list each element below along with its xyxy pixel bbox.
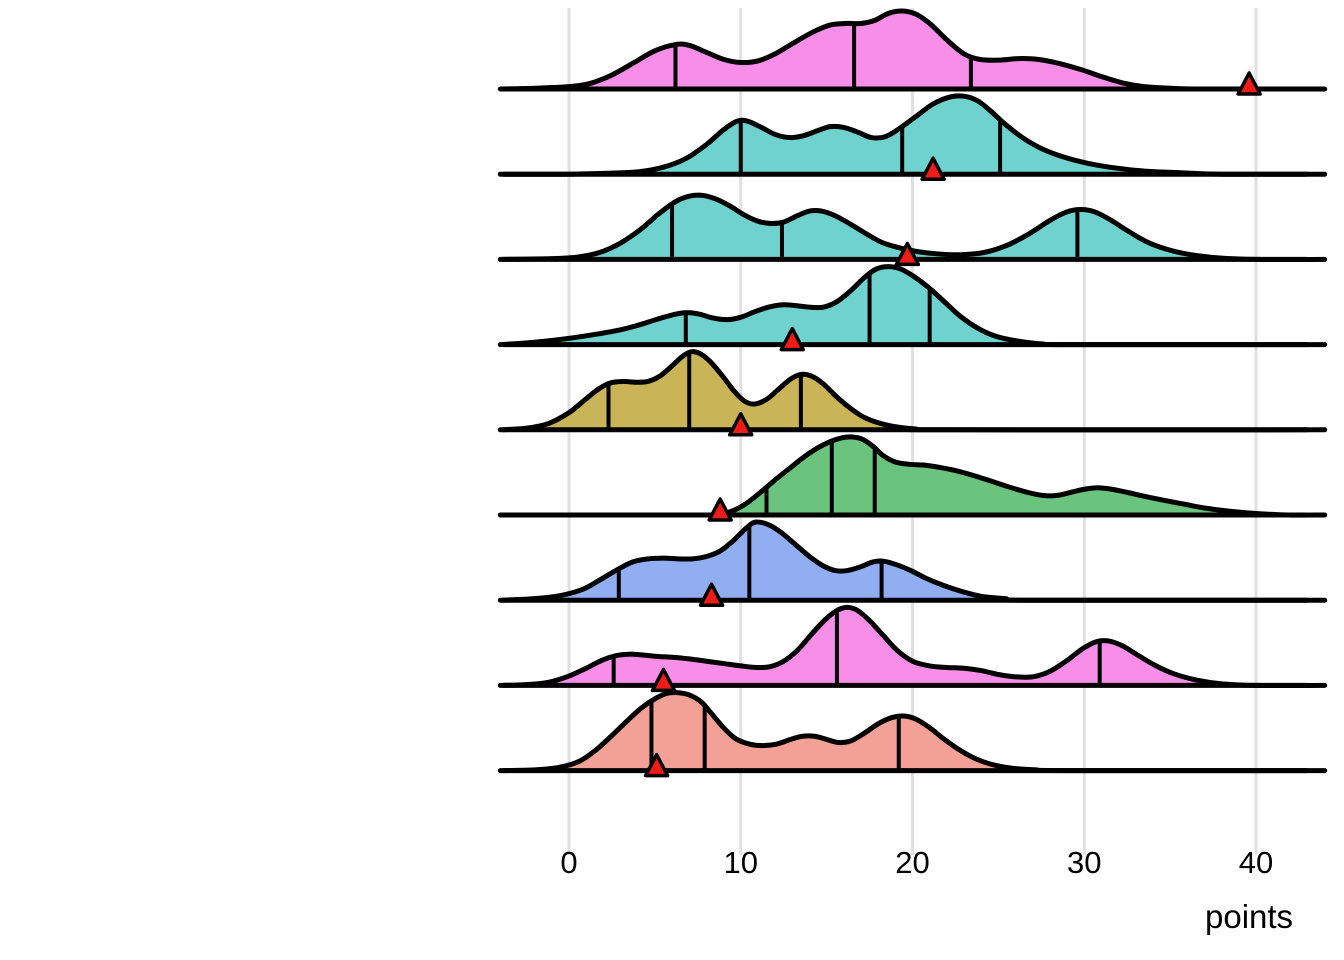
projection-marker: [709, 499, 731, 520]
x-tick-label: 40: [1239, 845, 1273, 881]
x-tick-label: 30: [1067, 845, 1101, 881]
ridgeline-chart: A.J. Brown (WR)Rhamondre Stevenson (RB)A…: [0, 0, 1344, 960]
ridge-0: [500, 11, 1324, 94]
y-axis-labels: A.J. Brown (WR)Rhamondre Stevenson (RB)A…: [0, 0, 500, 800]
x-tick-label: 20: [895, 845, 929, 881]
density-fill: [500, 11, 1324, 89]
x-tick-label: 0: [560, 845, 577, 881]
x-tick-label: 10: [724, 845, 758, 881]
ridge-3: [500, 267, 1324, 350]
x-axis-title: points: [1205, 898, 1293, 936]
